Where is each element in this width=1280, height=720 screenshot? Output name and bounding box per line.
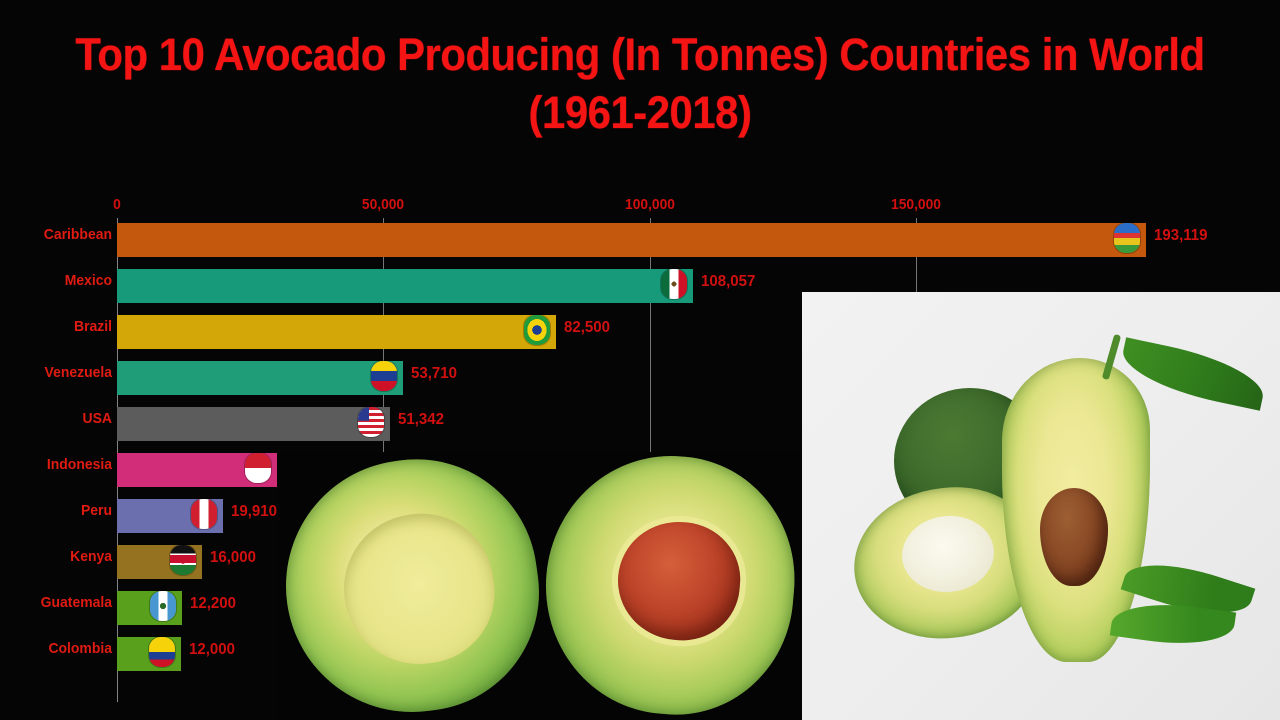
bar (117, 315, 556, 349)
bar (117, 269, 693, 303)
bar-value-label: 12,000 (189, 641, 235, 659)
chart-stage: Top 10 Avocado Producing (In Tonnes) Cou… (0, 0, 1280, 720)
bar-value-label: 51,342 (398, 411, 444, 429)
bar-category-label: Indonesia (0, 456, 112, 473)
x-tick-label: 50,000 (362, 196, 404, 213)
bar-category-label: Brazil (0, 318, 112, 335)
bar-category-label: Venezuela (0, 364, 112, 381)
caribbean-flag (1114, 223, 1140, 253)
bar-value-label: 16,000 (210, 549, 256, 567)
bar (117, 407, 390, 441)
venezuela-flag (371, 361, 397, 391)
bar-category-label: Mexico (0, 272, 112, 289)
title-line-1: Top 10 Avocado Producing (In Tonnes) Cou… (45, 26, 1235, 84)
kenya-flag (170, 545, 196, 575)
page-title: Top 10 Avocado Producing (In Tonnes) Cou… (45, 26, 1235, 142)
bar (117, 223, 1146, 257)
x-tick-label: 150,000 (891, 196, 941, 213)
bar-category-label: Colombia (0, 640, 112, 657)
x-tick-label: 0 (113, 196, 121, 213)
bar-row: Caribbean193,119 (0, 218, 1280, 264)
bar-category-label: Kenya (0, 548, 112, 565)
bar-category-label: USA (0, 410, 112, 427)
bar-value-label: 193,119 (1154, 227, 1208, 245)
bar-value-label: 19,910 (231, 503, 277, 521)
avocado-whole-and-half-photo (802, 292, 1280, 720)
bar-category-label: Caribbean (0, 226, 112, 243)
bar-value-label: 82,500 (564, 319, 610, 337)
mexico-flag (661, 269, 687, 299)
title-line-2: (1961-2018) (45, 84, 1235, 142)
brazil-flag (524, 315, 550, 345)
bar-value-label: 53,710 (411, 365, 457, 383)
bar-category-label: Peru (0, 502, 112, 519)
bar (117, 361, 403, 395)
avocado-halves-photo (278, 452, 808, 720)
indonesia-flag (245, 453, 271, 483)
x-tick-label: 100,000 (625, 196, 675, 213)
colombia-flag (149, 637, 175, 667)
guatemala-flag (150, 591, 176, 621)
bar-value-label: 12,200 (190, 595, 236, 613)
bar-category-label: Guatemala (0, 594, 112, 611)
bar-value-label: 108,057 (701, 273, 755, 291)
peru-flag (191, 499, 217, 529)
usa-flag (358, 407, 384, 437)
